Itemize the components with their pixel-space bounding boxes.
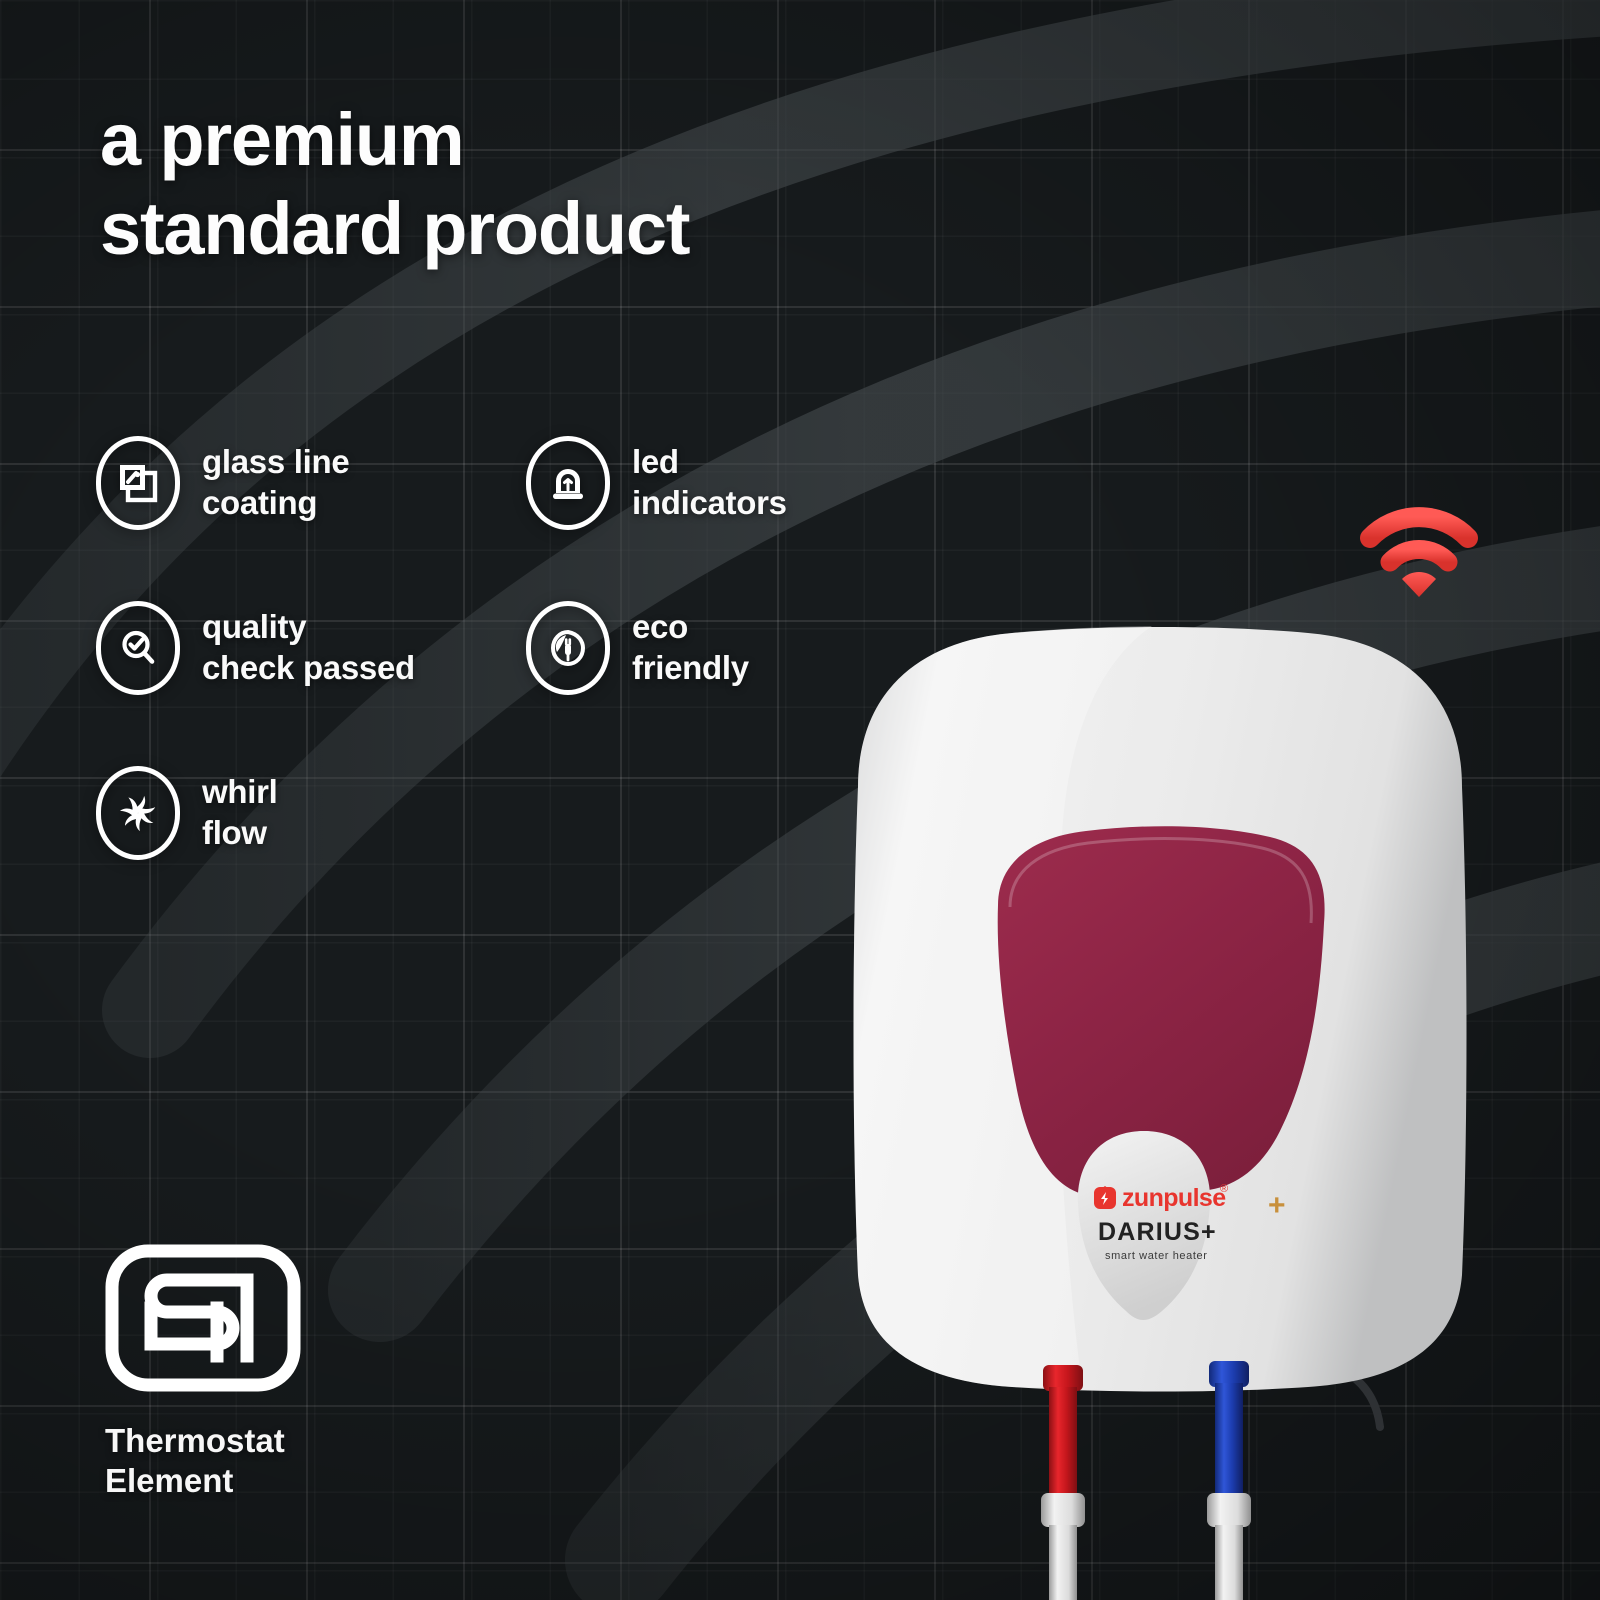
brand-trademark: ®: [1220, 1183, 1228, 1195]
isi-mark-icon: [105, 1244, 301, 1392]
feature-label: glass line coating: [202, 442, 349, 524]
page-title: a premium standard product: [100, 96, 1000, 274]
cold-pipe-extension: [1215, 1525, 1243, 1600]
plus-accent-mark: +: [1268, 1189, 1286, 1222]
headline-line-1: a premium: [100, 98, 463, 181]
feature-label: quality check passed: [202, 607, 415, 689]
cold-water-pipe: [1215, 1383, 1243, 1497]
feature-label: eco friendly: [632, 607, 749, 689]
feature-row-1: glass line coating led indicator: [96, 400, 936, 565]
certification-caption-line-2: Element: [105, 1461, 301, 1501]
hot-water-pipe: [1049, 1387, 1077, 1497]
feature-label-line-1: led: [632, 442, 787, 483]
product-tagline: smart water heater: [1105, 1250, 1208, 1262]
feature-label-line-2: indicators: [632, 483, 787, 524]
feature-label: led indicators: [632, 442, 787, 524]
certification-caption: Thermostat Element: [105, 1421, 301, 1502]
feature-led-indicators: led indicators: [526, 400, 936, 565]
quality-check-icon: [96, 601, 180, 695]
glass-line-coating-icon: [96, 436, 180, 530]
certification-caption-line-1: Thermostat: [105, 1421, 301, 1461]
feature-quality-check-passed: quality check passed: [96, 565, 526, 730]
feature-label-line-2: flow: [202, 813, 278, 854]
feature-label-line-1: glass line: [202, 442, 349, 483]
feature-label-line-1: eco: [632, 607, 749, 648]
eco-friendly-icon: [526, 601, 610, 695]
certification-block: Thermostat Element: [105, 1244, 301, 1502]
feature-label: whirl flow: [202, 772, 278, 854]
model-name: DARIUS+: [1098, 1218, 1217, 1246]
feature-label-line-2: coating: [202, 483, 349, 524]
cold-pipe-nut: [1207, 1493, 1251, 1527]
feature-whirl-flow: whirl flow: [96, 730, 526, 895]
led-indicator-icon: [526, 436, 610, 530]
feature-label-line-1: quality: [202, 607, 415, 648]
hot-pipe-nut: [1041, 1493, 1085, 1527]
water-heater-product-image: zunpulse ® DARIUS+ smart water heater +: [800, 575, 1520, 1600]
brand-name: zunpulse: [1122, 1184, 1226, 1212]
whirl-flow-icon: [96, 766, 180, 860]
pipe-group: [1041, 1361, 1251, 1600]
headline-line-2: standard product: [100, 185, 1000, 274]
feature-label-line-1: whirl: [202, 772, 278, 813]
feature-glass-line-coating: glass line coating: [96, 400, 526, 565]
hot-pipe-extension: [1049, 1525, 1077, 1600]
feature-label-line-2: friendly: [632, 648, 749, 689]
feature-label-line-2: check passed: [202, 648, 415, 689]
product-banner: a premium standard product glass line c: [0, 0, 1600, 1600]
